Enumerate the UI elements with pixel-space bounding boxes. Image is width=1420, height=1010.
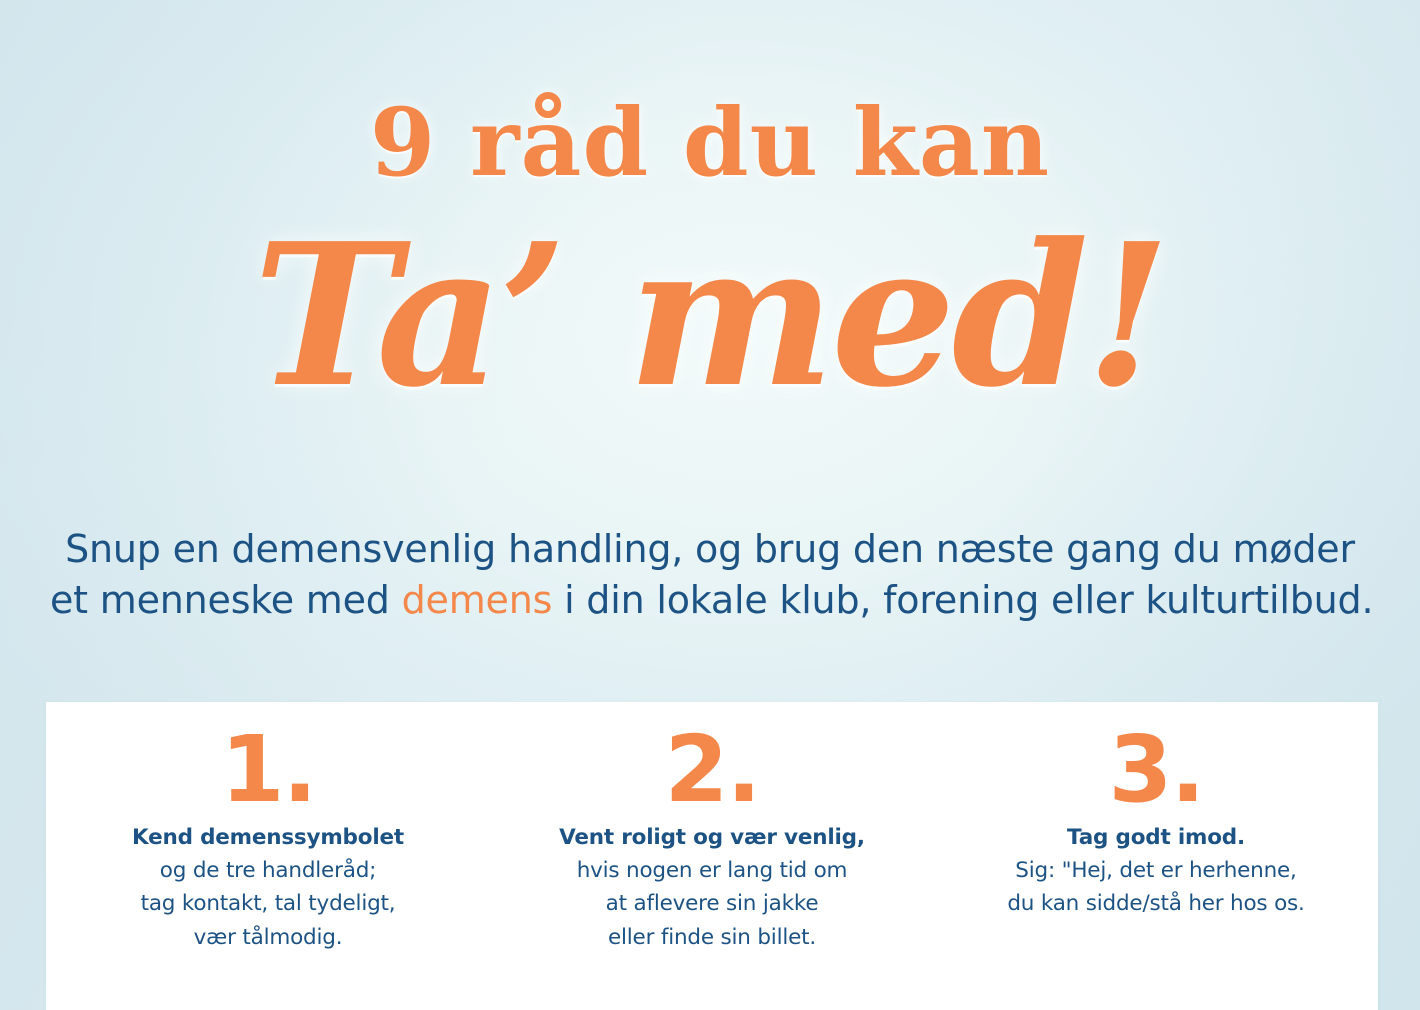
tip-card-3: 3. Tag godt imod. Sig: "Hej, det er herh… (934, 702, 1378, 1010)
tip-number-1: 1. (60, 724, 476, 816)
tip-body-line: eller finde sin billet. (504, 921, 920, 954)
tip-title-1: Kend demenssymbolet (60, 822, 476, 853)
subtitle-line-2: et menneske med demens i din lokale klub… (50, 575, 1370, 626)
tip-body-line: Sig: "Hej, det er herhenne, (948, 854, 1364, 887)
tip-body-3: Sig: "Hej, det er herhenne, du kan sidde… (948, 854, 1364, 921)
tip-card-2: 2. Vent roligt og vær venlig, hvis nogen… (490, 702, 934, 1010)
headline-kicker: 9 råd du kan (0, 96, 1420, 190)
tip-body-2: hvis nogen er lang tid om at aflevere si… (504, 854, 920, 954)
tip-body-line: vær tålmodig. (60, 921, 476, 954)
subtitle-line-2-before: et menneske med (50, 578, 402, 622)
subtitle-line-1: Snup en demensvenlig handling, og brug d… (50, 524, 1370, 575)
tips-grid: 1. Kend demenssymbolet og de tre handler… (46, 702, 1378, 1010)
tip-number-3: 3. (948, 724, 1364, 816)
tip-body-line: at aflevere sin jakke (504, 887, 920, 920)
tips-panel: 1. Kend demenssymbolet og de tre handler… (46, 702, 1378, 1010)
tip-body-line: tag kontakt, tal tydeligt, (60, 887, 476, 920)
headline-block: 9 råd du kan Ta’ med! (0, 96, 1420, 408)
tip-title-2: Vent roligt og vær venlig, (504, 822, 920, 853)
poster-canvas: 9 råd du kan Ta’ med! Snup en demensvenl… (0, 0, 1420, 1010)
headline-main-title: Ta’ med! (0, 224, 1420, 408)
tip-body-line: og de tre handleråd; (60, 854, 476, 887)
subtitle-line-2-after: i din lokale klub, forening eller kultur… (552, 578, 1373, 622)
subtitle: Snup en demensvenlig handling, og brug d… (50, 524, 1370, 626)
tip-body-line: du kan sidde/stå her hos os. (948, 887, 1364, 920)
tip-title-3: Tag godt imod. (948, 822, 1364, 853)
subtitle-accent-demens: demens (402, 578, 553, 622)
tip-body-1: og de tre handleråd; tag kontakt, tal ty… (60, 854, 476, 954)
tip-number-2: 2. (504, 724, 920, 816)
tip-card-1: 1. Kend demenssymbolet og de tre handler… (46, 702, 490, 1010)
tip-body-line: hvis nogen er lang tid om (504, 854, 920, 887)
